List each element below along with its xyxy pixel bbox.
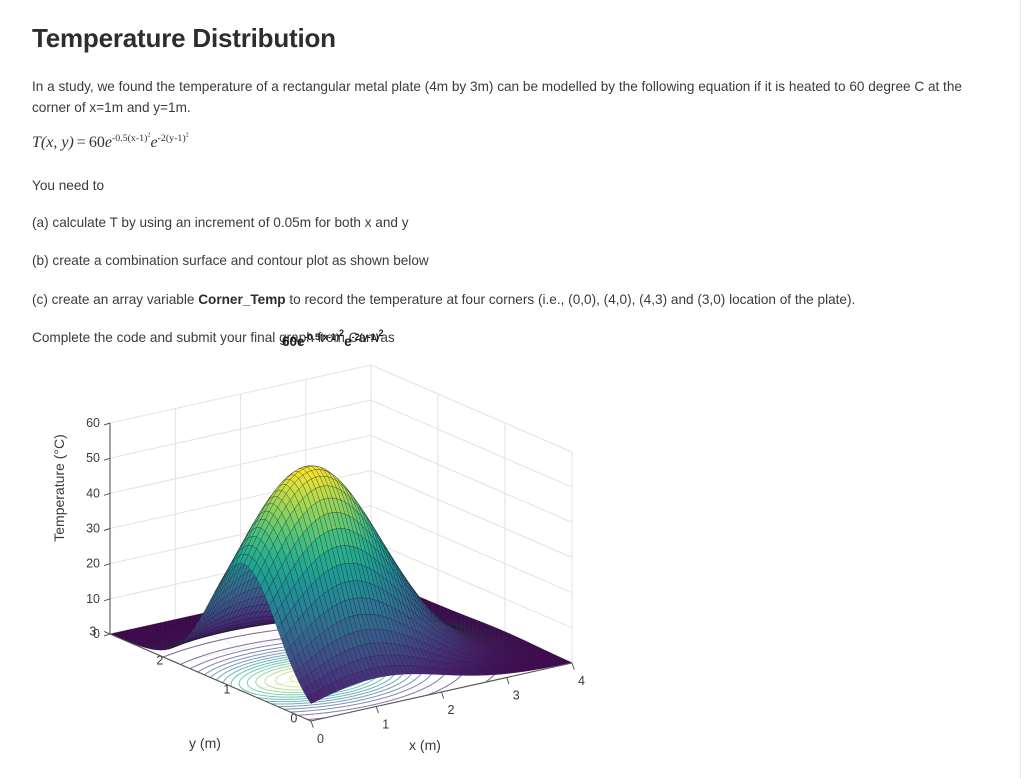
grid-z-back [371,471,572,558]
y-tick-label: 0 [290,712,297,726]
page-right-border [1020,0,1021,779]
equation-exponent-2: -2(y-1)2 [158,133,189,144]
equation-e2: e [151,134,158,151]
grid-z-back [371,400,572,487]
task-item-c: (c) create an array variable Corner_Temp… [32,289,972,310]
x-tick-label: 1 [382,718,389,732]
x-tick-label: 2 [447,703,454,717]
z-tick-label: 40 [86,486,100,500]
document-page: Temperature Distribution In a study, we … [0,0,1024,779]
equation-equals: = [74,134,89,151]
document-content: Temperature Distribution In a study, we … [32,0,972,348]
z-tick-label: 10 [86,592,100,606]
x-tick-mark [376,707,378,714]
z-tick-label: 20 [86,557,100,571]
task-item-a: (a) calculate T by using an increment of… [32,212,972,233]
x-tick-mark [311,721,313,728]
x-tick-mark [572,663,574,670]
y-tick-label: 3 [89,625,96,639]
z-tick-mark [104,493,110,495]
task-item-c-suffix: to record the temperature at four corner… [286,292,856,307]
z-tick-mark [104,458,110,460]
y-tick-mark [171,660,177,663]
equation-e1: e [105,134,112,151]
equation-lhs-T: T [32,134,41,151]
equation-lhs-args: (x, y) [41,134,74,151]
you-need-to-text: You need to [32,175,972,196]
y-tick-mark [104,631,110,634]
z-tick-mark [104,529,110,531]
x-axis-title: x (m) [409,737,441,753]
z-tick-label: 50 [86,451,100,465]
y-axis-title: y (m) [189,735,221,751]
z-tick-mark [104,423,110,425]
surface-plot-svg: 0102030405060012301234Temperature (°C)y … [30,318,640,773]
z-tick-mark [104,564,110,566]
page-title: Temperature Distribution [32,0,972,54]
x-tick-label: 4 [578,674,585,688]
x-tick-mark [507,678,509,685]
x-tick-label: 0 [317,732,324,746]
grid-z-back [371,435,572,522]
grid-z-back [371,365,572,452]
y-tick-label: 1 [223,683,230,697]
corner-temp-variable: Corner_Temp [198,292,285,307]
z-tick-mark [104,634,110,636]
equation-exponent-1: -0.5(x-1)2 [112,133,151,144]
intro-paragraph: In a study, we found the temperature of … [32,76,977,118]
x-tick-mark [442,692,444,699]
task-item-b: (b) create a combination surface and con… [32,250,972,271]
z-tick-label: 60 [86,416,100,430]
z-tick-mark [104,599,110,601]
surface-mesh [110,466,572,704]
z-tick-label: 30 [86,522,100,536]
plot-title: 60e-0.5(x-1)2e-2(y-1)2 [282,328,384,349]
x-tick-label: 3 [513,689,520,703]
surface-contour-figure: 0102030405060012301234Temperature (°C)y … [30,318,640,773]
task-item-c-prefix: (c) create an array variable [32,292,198,307]
y-tick-label: 2 [156,654,163,668]
z-axis-title: Temperature (°C) [51,434,67,542]
equation-coefficient: 60 [89,134,105,151]
temperature-equation: T(x, y)=60e-0.5(x-1)2e-2(y-1)2 [32,134,972,158]
